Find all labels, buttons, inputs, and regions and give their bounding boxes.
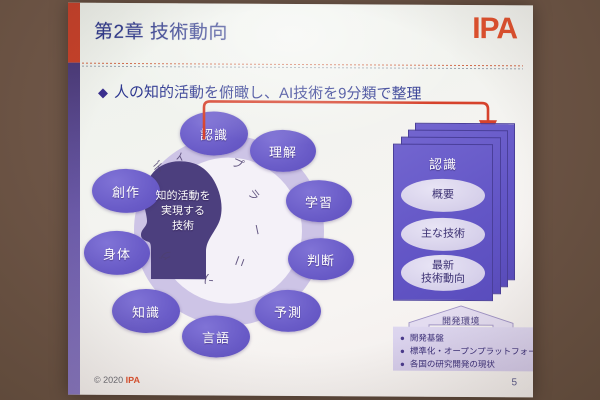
header-divider-gray: [82, 66, 523, 70]
node-yosoku[interactable]: 予測: [255, 290, 321, 332]
ai-capability-wheel: 知的活動を 実現する 技術 デ ィ ー プ ラ ー ニ ン グ 認識 理解 学習…: [82, 111, 382, 371]
footer-copyright-text: © 2020: [94, 375, 126, 385]
node-gengo[interactable]: 言語: [182, 315, 250, 357]
card-front[interactable]: 認識 概要 主な技術 最新 技術動向: [393, 144, 493, 302]
footer-copyright: © 2020 IPA: [94, 375, 140, 385]
bullet-dot-icon-2: ●: [400, 347, 405, 356]
panel-row-3-text: 各国の研究開発の現状: [410, 359, 495, 370]
center-label-line2: 実現する: [140, 204, 226, 220]
panel-row-2-text: 標準化・オープンプラットフォーム・信頼性: [410, 346, 533, 357]
card-item-gaiyo[interactable]: 概要: [401, 179, 485, 213]
dev-environment-panel: ●開発基盤 ●標準化・オープンプラットフォーム・信頼性 ●各国の研究開発の現状: [393, 327, 533, 372]
header-red-rail: [68, 3, 80, 63]
center-label-line1: 知的活動を: [140, 189, 226, 205]
slide-header: 第2章 技術動向 IPA: [80, 3, 533, 64]
bullet-dot-icon-1: ●: [400, 334, 405, 343]
bullet-dot-icon-3: ●: [400, 360, 405, 369]
center-label: 知的活動を 実現する 技術: [140, 189, 226, 235]
card-item3-line1: 最新: [432, 260, 454, 272]
category-card-stack: 認識 概要 主な技術 最新 技術動向: [393, 123, 523, 306]
presentation-slide: 第2章 技術動向 IPA ◆人の知的活動を俯瞰し、AI技術を9分類で整理 知的活…: [68, 3, 533, 398]
left-purple-rail: [68, 63, 80, 395]
dev-environment-label: 開発環境: [401, 314, 521, 328]
panel-row-3: ●各国の研究開発の現状: [400, 358, 495, 371]
node-handan[interactable]: 判断: [288, 238, 354, 280]
page-number: 5: [511, 377, 517, 388]
node-ninshiki[interactable]: 認識: [180, 111, 248, 155]
panel-row-2: ●標準化・オープンプラットフォーム・信頼性: [400, 345, 533, 358]
footer-org: IPA: [126, 375, 140, 385]
headline-text: 人の知的活動を俯瞰し、AI技術を9分類で整理: [114, 84, 422, 103]
node-rikai[interactable]: 理解: [250, 130, 316, 172]
card-item-shuna-gijutsu[interactable]: 主な技術: [401, 218, 485, 252]
node-gakushu[interactable]: 学習: [286, 180, 352, 222]
panel-row-1-text: 開発基盤: [410, 333, 444, 343]
page-title: 第2章 技術動向: [94, 17, 228, 45]
card-title: 認識: [394, 154, 492, 174]
projection-wall: 第2章 技術動向 IPA ◆人の知的活動を俯瞰し、AI技術を9分類で整理 知的活…: [0, 0, 600, 400]
headline: ◆人の知的活動を俯瞰し、AI技術を9分類で整理: [98, 81, 422, 104]
card-item3-line2: 技術動向: [421, 273, 465, 285]
node-shintai[interactable]: 身体: [84, 231, 150, 275]
panel-row-1: ●開発基盤: [400, 332, 444, 344]
diamond-bullet-icon: ◆: [98, 85, 108, 100]
center-label-line3: 技術: [140, 219, 226, 235]
node-chishiki[interactable]: 知識: [112, 289, 180, 333]
ipa-logo: IPA: [472, 12, 517, 46]
card-item-saishin-gijutsu-doko[interactable]: 最新 技術動向: [401, 255, 485, 292]
